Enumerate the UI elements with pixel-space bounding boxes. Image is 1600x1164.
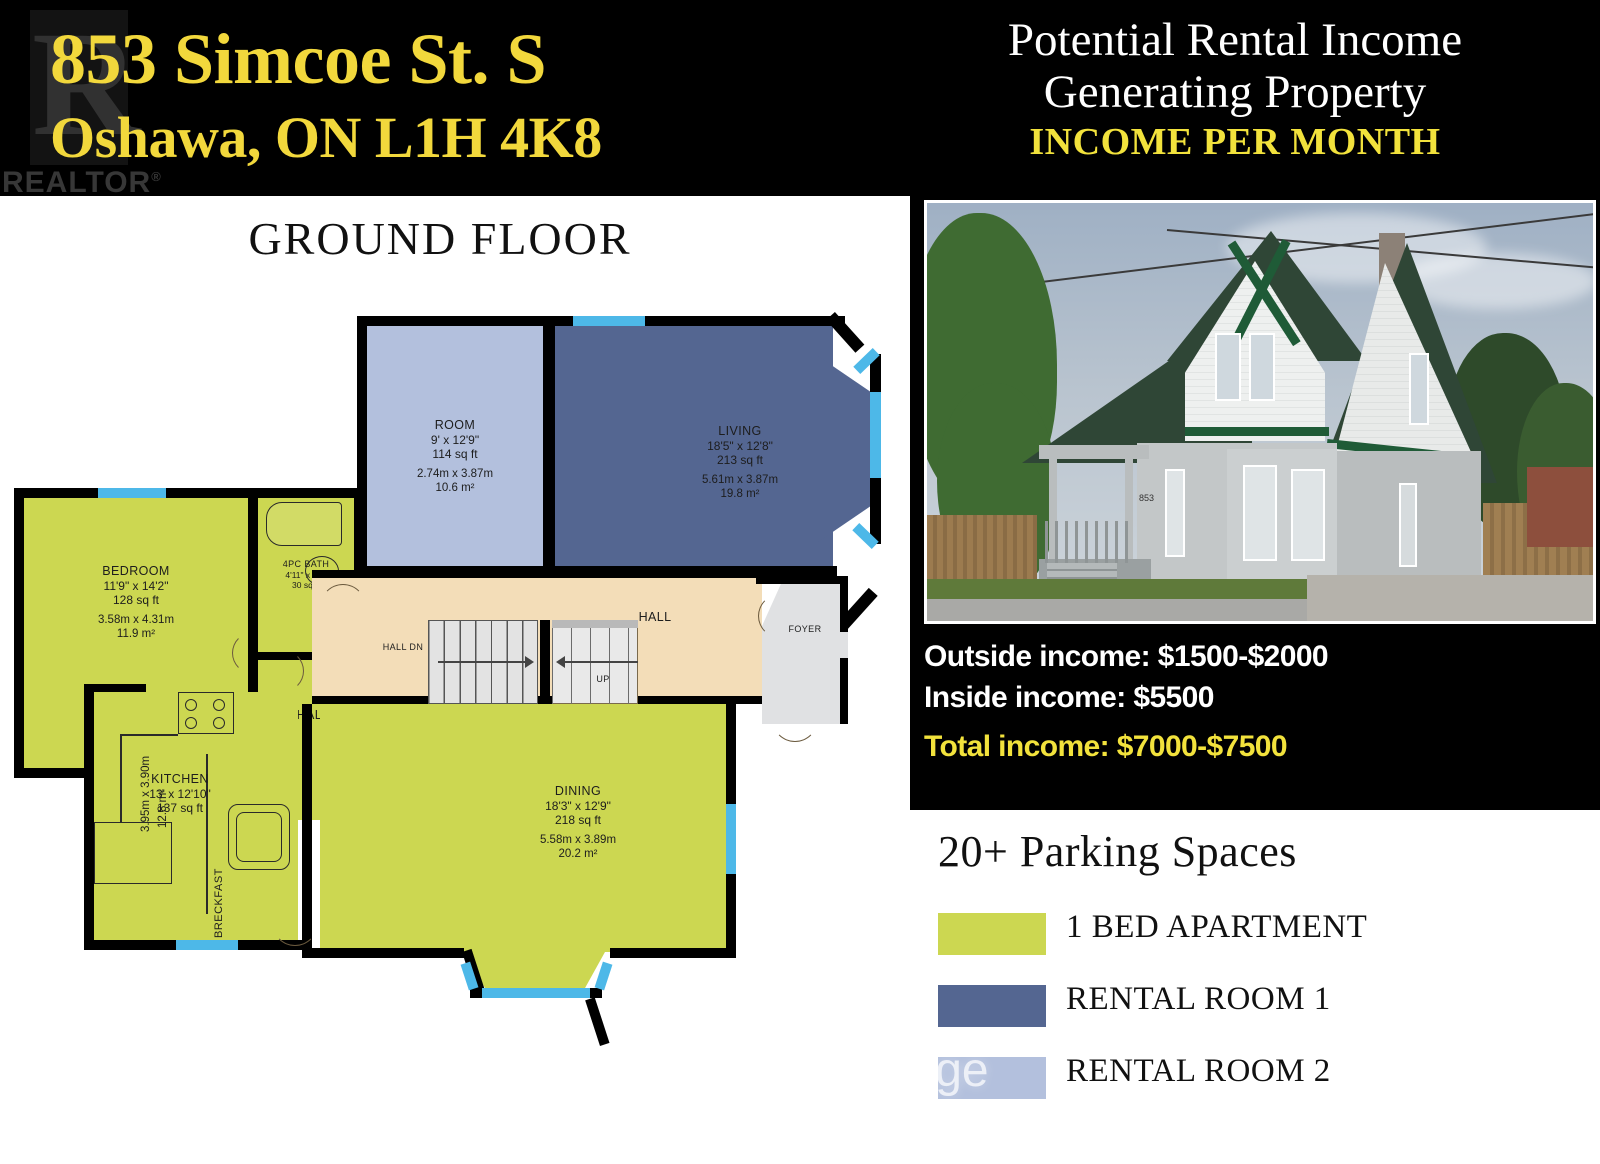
- dining-area-m2: 20.2 m²: [478, 848, 678, 862]
- driveway: [1307, 575, 1593, 621]
- wall-foyer-top: [756, 576, 848, 584]
- kitchen-dim-imperial: 13' x 12'10": [100, 787, 260, 801]
- kitchen-counter-line: [120, 734, 178, 736]
- kitchen-area-m2: 12.8 m²: [157, 789, 169, 828]
- stair-arrow-down-head: [525, 656, 534, 668]
- window-kitchen-bottom: [176, 940, 238, 950]
- legend-label-rental-room-1: RENTAL ROOM 1: [1066, 981, 1331, 1018]
- header-right: Potential Rental Income Generating Prope…: [870, 0, 1600, 196]
- property-photo-image: 853: [927, 203, 1593, 621]
- door-foyer-entry-swing: [772, 696, 818, 742]
- legend-swatch-rental-room-1: [938, 985, 1046, 1027]
- bedroom-area-sqft: 128 sq ft: [38, 593, 234, 607]
- floorplan-panel: GROUND FLOOR: [0, 196, 910, 1164]
- legend-label-rental-room-2: RENTAL ROOM 2: [1066, 1053, 1331, 1090]
- door-foyer-swing: [758, 594, 802, 638]
- bath-name: 4PC BATH: [258, 559, 354, 570]
- door-hallleft-swing: [262, 650, 304, 692]
- window-dining-bay-bottom: [482, 988, 590, 998]
- room-label-dining: DINING 18'3" x 12'9" 218 sq ft 5.58m x 3…: [478, 784, 678, 861]
- stove-burner-icon: [213, 699, 225, 711]
- living-area-m2: 19.8 m²: [640, 488, 840, 502]
- wall-hall-top: [312, 570, 768, 578]
- window-living-bay-right: [870, 392, 881, 478]
- address-line-1: 853 Simcoe St. S: [50, 18, 546, 101]
- lower-window-side: [1399, 483, 1417, 567]
- breakfast-island-inner: [236, 812, 282, 862]
- dining-dim-metric: 5.58m x 3.89m: [478, 834, 678, 848]
- living-name: LIVING: [640, 424, 840, 439]
- upper-window-side: [1409, 353, 1429, 425]
- stair-landing-up: [552, 620, 638, 628]
- legend-swatch-rental-room-2: [938, 1057, 1046, 1099]
- legend-label-apartment: 1 BED APARTMENT: [1066, 909, 1367, 946]
- wall-bedroom-left: [14, 488, 24, 778]
- stove-burner-icon: [213, 717, 225, 729]
- bedroom-dim-metric: 3.58m x 4.31m: [38, 614, 234, 628]
- room-label-room: ROOM 9' x 12'9" 114 sq ft 2.74m x 3.87m …: [375, 418, 535, 495]
- stair-up-label: UP: [578, 674, 628, 685]
- lower-bay-window-left: [1243, 465, 1277, 561]
- address-line-2: Oshawa, ON L1H 4K8: [50, 104, 602, 171]
- legend-item: 1 BED APARTMENT: [938, 905, 1588, 977]
- room-label-kitchen: KITCHEN 13' x 12'10" 137 sq ft: [100, 772, 260, 815]
- room-name: ROOM: [375, 418, 535, 433]
- kitchen-name: KITCHEN: [100, 772, 260, 787]
- headline-line-2: Generating Property: [870, 66, 1600, 118]
- stair-arrow-up-head: [556, 656, 565, 668]
- neighbour-house: [1527, 467, 1593, 547]
- stair-arrow-down: [438, 661, 530, 663]
- room-dim-imperial: 9' x 12'9": [375, 433, 535, 447]
- dining-area-sqft: 218 sq ft: [478, 813, 678, 827]
- wall-dining-bottom-left: [302, 948, 464, 958]
- lower-window-front: [1165, 469, 1185, 557]
- realtor-logo-text: REALTOR®: [2, 166, 162, 200]
- bedroom-area-m2: 11.9 m²: [38, 628, 234, 642]
- headline-line-1: Potential Rental Income: [870, 14, 1600, 66]
- breakfast-text: BRECKFAST: [213, 868, 225, 938]
- wall-dining-bay-right: [585, 997, 609, 1046]
- kitchen-dim-metric: 3.95m x 3.90m: [140, 756, 152, 832]
- wall-kitchen-left: [84, 684, 94, 950]
- upper-window-left: [1215, 333, 1241, 401]
- wall-stair-divider: [540, 620, 550, 704]
- room-dim-metric: 2.74m x 3.87m: [375, 468, 535, 482]
- listing-flyer: R REALTOR® 853 Simcoe St. S Oshawa, ON L…: [0, 0, 1600, 1164]
- legend-item: RENTAL ROOM 1: [938, 977, 1588, 1049]
- dining-dim-imperial: 18'3" x 12'9": [478, 799, 678, 813]
- window-bedroom-top: [98, 488, 166, 498]
- bedroom-name: BEDROOM: [38, 564, 234, 579]
- wall-bath-top: [258, 488, 364, 498]
- floorplan-drawing: ROOM 9' x 12'9" 114 sq ft 2.74m x 3.87m …: [0, 196, 910, 1164]
- room-area-m2: 10.6 m²: [375, 482, 535, 496]
- window-dining-right: [726, 804, 736, 874]
- room-area-sqft: 114 sq ft: [375, 447, 535, 461]
- living-area-sqft: 213 sq ft: [640, 453, 840, 467]
- door-kitchen-swing: [272, 900, 318, 946]
- upper-window-right: [1249, 333, 1275, 401]
- stove-burner-icon: [185, 717, 197, 729]
- floorplan-legend: 1 BED APARTMENT RENTAL ROOM 1 RENTAL ROO…: [938, 905, 1588, 1121]
- bathtub-fixture: [266, 502, 342, 546]
- total-income-line: Total income: $7000-$7500: [924, 726, 1600, 767]
- parking-headline: 20+ Parking Spaces: [938, 826, 1297, 877]
- kitchen-area-m2-vertical: 12.8 m²: [157, 789, 169, 828]
- living-dim-imperial: 18'5" x 12'8": [640, 439, 840, 453]
- stove-burner-icon: [185, 699, 197, 711]
- green-trim-front: [1185, 427, 1329, 436]
- stair-up-text: UP: [578, 674, 628, 685]
- kitchen-area-sqft: 137 sq ft: [100, 801, 260, 815]
- wall-room-living-divider: [543, 316, 555, 576]
- house-number-on-wall: 853: [1139, 493, 1154, 503]
- room-label-living: LIVING 18'5" x 12'8" 213 sq ft 5.61m x 3…: [640, 424, 840, 501]
- inside-income-line: Inside income: $5500: [924, 677, 1600, 718]
- porch-railing: [1045, 521, 1131, 563]
- bedroom-dim-imperial: 11'9" x 14'2": [38, 579, 234, 593]
- wall-dining-bottom-right: [610, 948, 736, 958]
- living-dim-metric: 5.61m x 3.87m: [640, 474, 840, 488]
- header-left: R REALTOR® 853 Simcoe St. S Oshawa, ON L…: [0, 0, 910, 196]
- door-hall-dn-swing: [320, 584, 366, 630]
- income-summary: Outside income: $1500-$2000 Inside incom…: [924, 636, 1600, 767]
- room-label-bedroom: BEDROOM 11'9" x 14'2" 128 sq ft 3.58m x …: [38, 564, 234, 641]
- kitchen-cabinet-block: [94, 822, 172, 884]
- wall-kitchen-top-stub: [84, 684, 146, 692]
- wall-foyer-right-lower: [840, 658, 848, 724]
- kitchen-metric-vertical: 3.95m x 3.90m: [140, 756, 152, 832]
- stair-arrow-up: [560, 661, 638, 663]
- fence-left: [927, 515, 1037, 583]
- legend-item: RENTAL ROOM 2: [938, 1049, 1588, 1121]
- hall-dn-fill: [312, 626, 376, 702]
- breakfast-label-vertical: BRECKFAST: [213, 868, 225, 938]
- window-room-top: [573, 316, 645, 326]
- outside-income-line: Outside income: $1500-$2000: [924, 636, 1600, 677]
- dining-name: DINING: [478, 784, 678, 799]
- legend-swatch-apartment: [938, 913, 1046, 955]
- lower-bay-window-right: [1291, 469, 1325, 561]
- property-photo: 853: [924, 200, 1596, 624]
- headline-line-3: INCOME PER MONTH: [870, 120, 1600, 164]
